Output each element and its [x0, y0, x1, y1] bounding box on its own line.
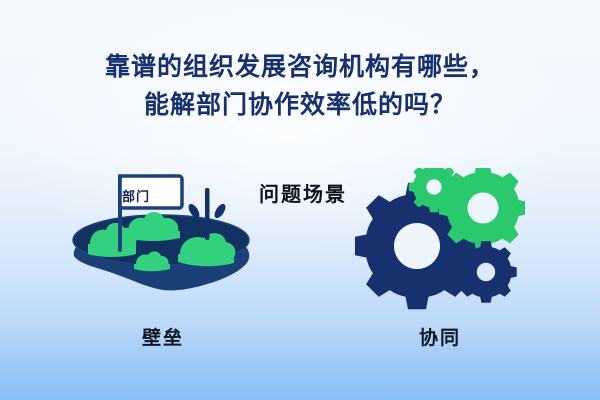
title-line-2: 能解部门协作效率低的吗？ — [0, 86, 600, 124]
middle-label-problem-scene: 问题场景 — [238, 178, 368, 207]
title-line-1: 靠谱的组织发展咨询机构有哪些， — [0, 48, 600, 86]
poster-title: 靠谱的组织发展咨询机构有哪些， 能解部门协作效率低的吗？ — [0, 48, 600, 124]
flag-banner — [120, 176, 182, 208]
poster-canvas: 靠谱的组织发展咨询机构有哪些， 能解部门协作效率低的吗？ — [0, 0, 600, 400]
sprout-leaf-right — [212, 202, 227, 220]
caption-right-collaboration: 协同 — [385, 323, 495, 350]
bush-left-base — [88, 244, 136, 257]
island-icon — [62, 168, 262, 308]
caption-left-silo: 壁垒 — [108, 323, 218, 350]
gears-icon — [355, 168, 525, 313]
sprout-stem — [205, 188, 210, 240]
gear-small-navy — [455, 241, 516, 302]
illustration-stage: 部门 壁垒 问题场景 — [0, 160, 600, 370]
island-silo-group: 部门 — [62, 168, 262, 308]
gears-group — [355, 168, 525, 308]
bush-center-top-base — [126, 231, 180, 241]
